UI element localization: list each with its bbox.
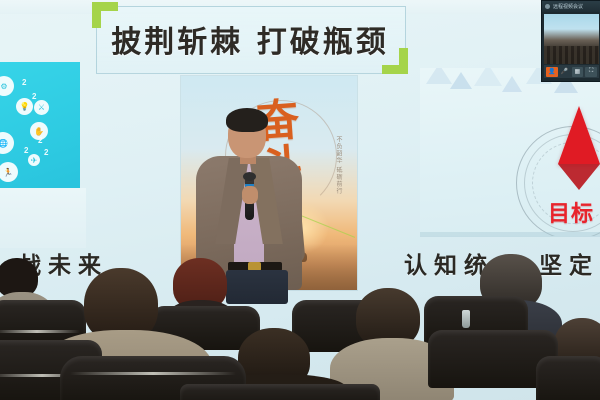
vc-video-feed[interactable] [544, 14, 599, 64]
vc-titlebar: 远程视频会议 [542, 1, 600, 12]
red-arrow-icon [558, 106, 600, 164]
vc-window-title: 远程视频会议 [553, 3, 583, 10]
chair [180, 384, 380, 400]
center-slide-caption: 不负韶华 砥砺前行 [329, 136, 343, 195]
right-slide-baseline [420, 232, 600, 237]
icon-number: 2 [44, 148, 48, 157]
vc-control-bar[interactable]: 👤 🎤 ▦ ⛶ [544, 65, 599, 78]
vc-status-icon [545, 4, 550, 9]
person-run-icon: 🏃 [0, 162, 18, 182]
icon-number: 2 [22, 78, 26, 87]
polygon-decor [450, 72, 472, 89]
slide-title: 披荆斩棘 打破瓶颈 [96, 8, 404, 70]
left-slide-panel: ⚙ 💡 ⚔ ✋ 🌐 🏃 ✈ 2 2 2 2 2 [0, 62, 80, 190]
conference-photo: ⚙ 💡 ⚔ ✋ 🌐 🏃 ✈ 2 2 2 2 2 披荆斩棘 打破瓶颈 奋斗 不负韶… [0, 0, 600, 400]
lightbulb-icon: 💡 [16, 98, 33, 115]
polygon-decor [502, 76, 522, 92]
microphone-head [243, 172, 256, 181]
polygon-decor [474, 68, 502, 86]
icon-cluster: ⚙ 💡 ⚔ ✋ 🌐 🏃 ✈ 2 2 2 2 2 [0, 74, 80, 184]
icon-number: 2 [32, 92, 36, 101]
chair-highlight [0, 330, 80, 333]
flask-icon: ⚔ [34, 100, 49, 115]
icon-number: 2 [24, 146, 28, 155]
polygon-decor [426, 68, 452, 84]
red-arrow-base [558, 164, 600, 190]
rocket-icon: ✈ [28, 154, 40, 166]
video-conference-panel[interactable]: 远程视频会议 👤 🎤 ▦ ⛶ [541, 0, 600, 82]
speaker-trousers [226, 270, 288, 304]
left-panel-mat [0, 188, 86, 248]
mic-icon[interactable]: 🎤 [560, 67, 570, 77]
chair [536, 356, 600, 400]
speaker-hair [226, 108, 268, 132]
participants-button[interactable]: 👤 [546, 67, 558, 77]
water-bottle [462, 310, 470, 328]
globe-icon: 🌐 [0, 132, 14, 154]
camera-icon[interactable]: ⛶ [585, 67, 597, 77]
gear-icon: ⚙ [0, 76, 14, 96]
speaker-hand [242, 186, 258, 204]
grid-icon[interactable]: ▦ [572, 67, 584, 77]
right-slide-headline: 目标 [548, 196, 594, 228]
icon-number: 2 [38, 136, 42, 145]
chair-highlight [70, 372, 236, 375]
vc-feed-crowd [544, 46, 599, 64]
